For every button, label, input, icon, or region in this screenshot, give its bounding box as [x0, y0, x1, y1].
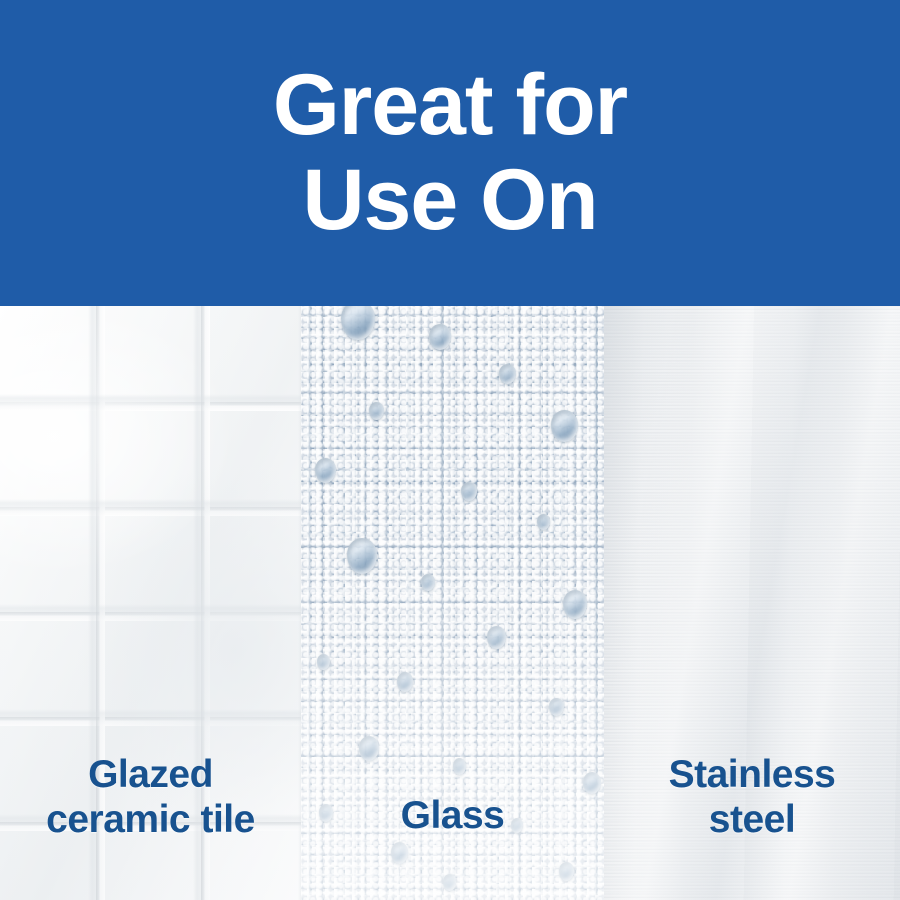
caption-glazed-ceramic-tile: Glazed ceramic tile [0, 752, 301, 842]
product-feature-poster: Great for Use On [0, 0, 900, 900]
caption-glazed-ceramic-tile-line-1: Glazed [0, 752, 301, 797]
caption-stainless-steel: Stainless steel [604, 752, 900, 842]
caption-glass-line-1: Glass [301, 793, 604, 838]
header-title-line-1: Great for [273, 61, 627, 150]
caption-stainless-steel-line-2: steel [604, 797, 900, 842]
header-banner: Great for Use On [0, 0, 900, 306]
caption-stainless-steel-line-1: Stainless [604, 752, 900, 797]
caption-glass: Glass [301, 793, 604, 838]
header-title-line-2: Use On [302, 156, 597, 245]
caption-glazed-ceramic-tile-line-2: ceramic tile [0, 797, 301, 842]
